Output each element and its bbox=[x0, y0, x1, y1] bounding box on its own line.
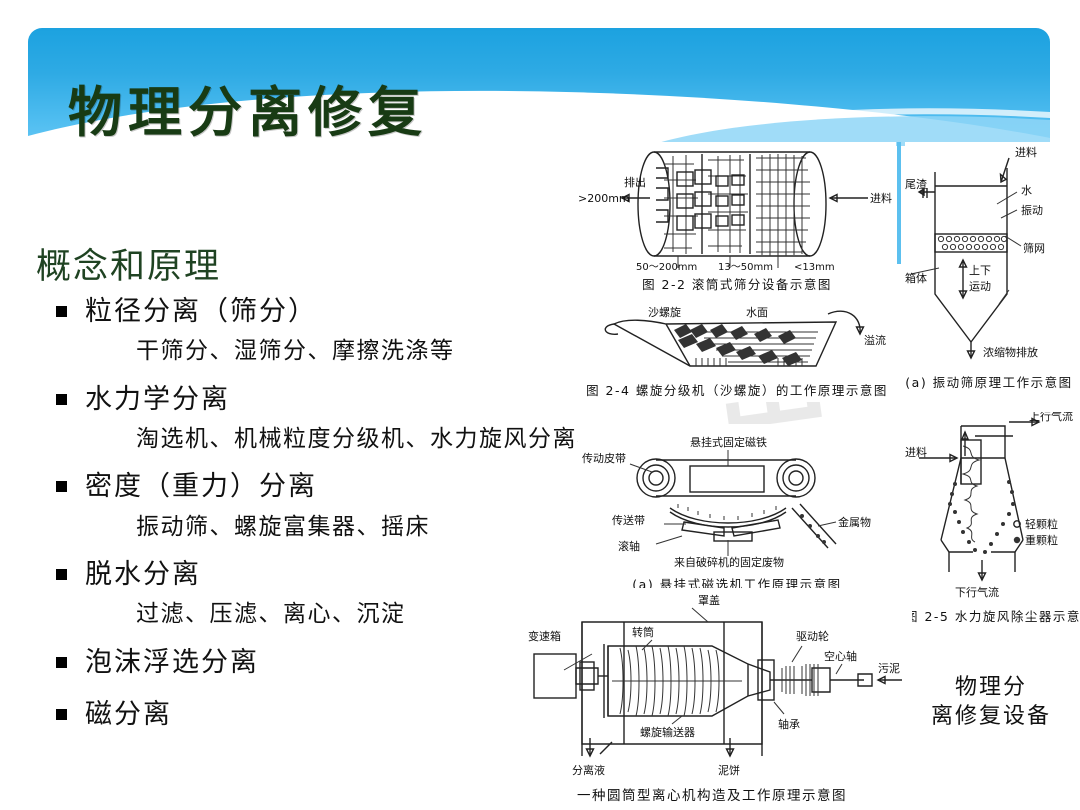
bullet-subtext: 过滤、压滤、离心、沉淀 bbox=[136, 597, 556, 630]
slide-canvas: 物理分离修复 概念和原理 粒径分离（筛分） 干筛分、湿筛分、摩擦洗涤等 水力学分… bbox=[0, 0, 1080, 810]
list-item: 水力学分离 淘选机、机械粒度分级机、水力旋风分离器 bbox=[36, 380, 556, 456]
label-screw-conveyor: 螺旋输送器 bbox=[640, 725, 695, 739]
bullet-label: 粒径分离（筛分） bbox=[85, 292, 317, 330]
spiral-classifier-drawing: 沙螺旋 水面 溢流 bbox=[578, 300, 896, 380]
figure-caption: 图 2-5 水力旋风除尘器示意图 bbox=[905, 606, 1073, 625]
square-bullet-icon bbox=[56, 569, 67, 580]
square-bullet-icon bbox=[56, 481, 67, 492]
square-bullet-icon bbox=[56, 306, 67, 317]
label-feed: 进料 bbox=[870, 191, 892, 205]
square-bullet-icon bbox=[56, 709, 67, 720]
label-waste-from-crusher: 来自破碎机的固定废物 bbox=[674, 555, 784, 569]
figure-centrifuge: 变速箱 罩盖 转筒 驱动轮 空心轴 污泥 轴承 螺旋输送器 分离液 泥饼 一种圆… bbox=[512, 588, 912, 806]
label-size-range-1: 50～200mm bbox=[636, 262, 697, 272]
figure-drum-screen: 排出 >200mm 进料 50～200mm 13～50mm <13mm 图 2-… bbox=[578, 142, 896, 294]
equipment-label-line1: 物理分 bbox=[912, 672, 1070, 701]
title-banner: 物理分离修复 bbox=[28, 28, 1050, 146]
bullet-label: 磁分离 bbox=[85, 695, 172, 733]
label-suspended-magnet: 悬挂式固定磁铁 bbox=[690, 435, 767, 449]
label-metal: 金属物 bbox=[838, 515, 871, 529]
label-tailings: 尾渣 bbox=[905, 177, 927, 191]
accent-strip-decoration bbox=[897, 142, 901, 264]
label-size-out: >200mm bbox=[578, 192, 630, 205]
label-water-surface: 水面 bbox=[746, 306, 768, 319]
cyclone-drawing: 上行气流 进料 轻颗粒 重颗粒 下行气流 bbox=[905, 412, 1073, 608]
figure-caption: (a) 振动筛原理工作示意图 bbox=[905, 372, 1073, 391]
label-up-down-2: 运动 bbox=[969, 280, 991, 293]
bullet-subtext: 振动筛、螺旋富集器、摇床 bbox=[136, 510, 556, 543]
label-sand-spiral: 沙螺旋 bbox=[648, 305, 681, 319]
label-cover: 罩盖 bbox=[698, 593, 720, 607]
equipment-label: 物理分 离修复设备 bbox=[912, 672, 1070, 730]
figure-spiral-classifier: 沙螺旋 水面 溢流 图 2-4 螺旋分级机（沙螺旋）的工作原理示意图 bbox=[578, 300, 896, 402]
label-size-range-2: 13～50mm bbox=[718, 262, 773, 272]
figure-caption: 图 2-4 螺旋分级机（沙螺旋）的工作原理示意图 bbox=[578, 380, 896, 399]
list-item: 脱水分离 过滤、压滤、离心、沉淀 bbox=[36, 555, 556, 631]
label-drive-belt: 传动皮带 bbox=[582, 452, 626, 465]
label-bearing: 轴承 bbox=[778, 717, 800, 731]
label-size-range-3: <13mm bbox=[794, 262, 835, 272]
bullet-label: 密度（重力）分离 bbox=[85, 467, 317, 505]
label-heavy-particle: 重颗粒 bbox=[1025, 533, 1058, 547]
label-feed: 进料 bbox=[1015, 145, 1037, 159]
label-up-flow: 上行气流 bbox=[1029, 412, 1073, 423]
label-conveyor-belt: 传送带 bbox=[612, 513, 645, 527]
bullet-subtext: 淘选机、机械粒度分级机、水力旋风分离器 bbox=[136, 422, 556, 455]
label-screen-mesh: 筛网 bbox=[1023, 241, 1045, 255]
section-heading: 概念和原理 bbox=[36, 238, 221, 289]
figure-caption: 一种圆筒型离心机构造及工作原理示意图 bbox=[512, 784, 912, 804]
label-gearbox: 变速箱 bbox=[528, 629, 561, 643]
label-hollow-shaft: 空心轴 bbox=[824, 649, 857, 663]
label-overflow: 溢流 bbox=[864, 333, 886, 347]
label-mud-cake: 泥饼 bbox=[718, 763, 740, 777]
label-sludge: 污泥 bbox=[878, 662, 900, 675]
vibrating-screen-drawing: 进料 水 振动 筛网 尾渣 箱体 上下 运动 浓缩物排放 bbox=[905, 142, 1073, 372]
label-vibration: 振动 bbox=[1021, 203, 1043, 217]
drum-screen-drawing: 排出 >200mm 进料 50～200mm 13～50mm <13mm bbox=[578, 142, 896, 272]
figure-vibrating-screen: 进料 水 振动 筛网 尾渣 箱体 上下 运动 浓缩物排放 (a) 振动筛原理工作… bbox=[905, 142, 1073, 392]
magnetic-separator-drawing: 悬挂式固定磁铁 传动皮带 传送带 滚轴 来自破碎机的固定废物 bbox=[578, 424, 896, 572]
list-item: 粒径分离（筛分） 干筛分、湿筛分、摩擦洗涤等 bbox=[36, 292, 556, 368]
list-item: 泡沫浮选分离 bbox=[36, 643, 556, 681]
figure-magnetic-separator: 悬挂式固定磁铁 传动皮带 传送带 滚轴 来自破碎机的固定废物 bbox=[578, 424, 896, 592]
square-bullet-icon bbox=[56, 657, 67, 668]
centrifuge-drawing: 变速箱 罩盖 转筒 驱动轮 空心轴 污泥 轴承 螺旋输送器 分离液 泥饼 bbox=[512, 588, 912, 784]
bullet-label: 脱水分离 bbox=[85, 555, 201, 593]
label-feed: 进料 bbox=[905, 445, 927, 459]
figure-cyclone-separator: 上行气流 进料 轻颗粒 重颗粒 下行气流 图 2-5 水力旋风除尘器示意图 bbox=[905, 412, 1073, 627]
label-concentrate-discharge: 浓缩物排放 bbox=[983, 345, 1038, 359]
label-roller: 滚轴 bbox=[618, 539, 640, 553]
page-title: 物理分离修复 bbox=[68, 68, 428, 146]
label-drive-wheel: 驱动轮 bbox=[796, 629, 829, 643]
label-water: 水 bbox=[1021, 184, 1032, 197]
bullet-label: 水力学分离 bbox=[85, 380, 230, 418]
label-box-body: 箱体 bbox=[905, 271, 927, 285]
list-item: 密度（重力）分离 振动筛、螺旋富集器、摇床 bbox=[36, 467, 556, 543]
label-down-flow: 下行气流 bbox=[955, 585, 999, 599]
figure-caption: 图 2-2 滚筒式筛分设备示意图 bbox=[578, 274, 896, 293]
equipment-label-line2: 离修复设备 bbox=[912, 701, 1070, 730]
label-up-down-1: 上下 bbox=[969, 264, 991, 277]
bullet-subtext: 干筛分、湿筛分、摩擦洗涤等 bbox=[136, 334, 556, 367]
label-light-particle: 轻颗粒 bbox=[1025, 517, 1058, 531]
bullet-list: 粒径分离（筛分） 干筛分、湿筛分、摩擦洗涤等 水力学分离 淘选机、机械粒度分级机… bbox=[36, 292, 556, 735]
label-discharge: 排出 bbox=[624, 175, 646, 189]
list-item: 磁分离 bbox=[36, 695, 556, 733]
label-drum: 转筒 bbox=[632, 625, 654, 639]
bullet-label: 泡沫浮选分离 bbox=[85, 643, 259, 681]
label-separated-liquid: 分离液 bbox=[572, 763, 605, 777]
square-bullet-icon bbox=[56, 394, 67, 405]
